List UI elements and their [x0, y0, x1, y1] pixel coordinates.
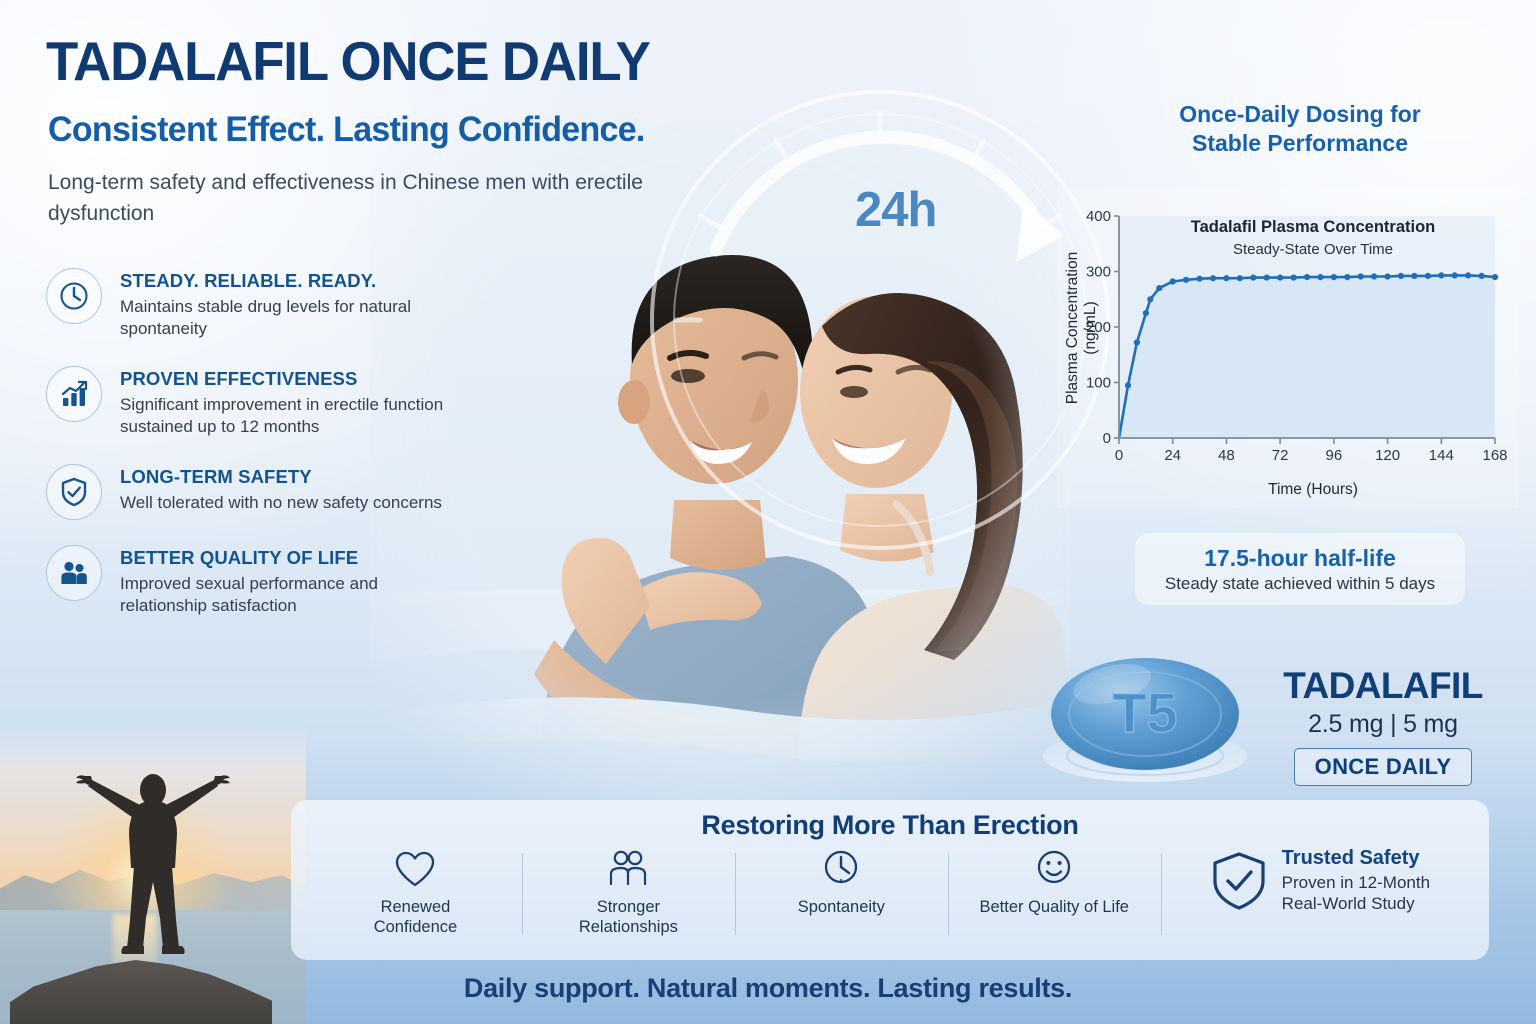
trusted-safety-line2: Real-World Study	[1282, 893, 1430, 914]
feature-item-effectiveness: PROVEN EFFECTIVENESS Significant improve…	[46, 366, 466, 439]
feature-list: STEADY. RELIABLE. READY. Maintains stabl…	[46, 268, 466, 643]
feature-heading: STEADY. RELIABLE. READY.	[120, 270, 466, 292]
svg-text:Tadalafil Plasma Concentration: Tadalafil Plasma Concentration	[1191, 218, 1436, 236]
svg-text:144: 144	[1429, 447, 1454, 464]
feature-item-quality-of-life: BETTER QUALITY OF LIFE Improved sexual p…	[46, 545, 466, 618]
feature-heading: PROVEN EFFECTIVENESS	[120, 368, 466, 390]
benefit-label: Spontaneity	[798, 897, 885, 917]
feature-body: Well tolerated with no new safety concer…	[120, 492, 442, 514]
svg-text:Steady-State Over Time: Steady-State Over Time	[1233, 241, 1393, 258]
man-arms-outstretched-silhouette	[58, 758, 248, 958]
halflife-title: 17.5-hour half-life	[1204, 545, 1396, 572]
svg-text:0: 0	[1103, 430, 1111, 447]
feature-heading: BETTER QUALITY OF LIFE	[120, 547, 466, 569]
plasma-concentration-chart: 0100200300400 024487296120144168 Tadalaf…	[1057, 188, 1519, 508]
smiley-face-icon	[1032, 847, 1076, 891]
svg-text:0: 0	[1115, 447, 1123, 464]
clock-icon	[46, 268, 102, 324]
product-info: TADALAFIL 2.5 mg | 5 mg ONCE DAILY	[1258, 665, 1508, 786]
tadalafil-pill-image: T5	[1040, 628, 1250, 788]
svg-text:100: 100	[1086, 375, 1111, 392]
svg-text:Time (Hours): Time (Hours)	[1268, 481, 1358, 498]
chart-panel-heading: Once-Daily Dosing for Stable Performance	[1125, 100, 1475, 158]
feature-item-safety: LONG-TERM SAFETY Well tolerated with no …	[46, 464, 466, 520]
product-dose: 2.5 mg | 5 mg	[1258, 710, 1508, 739]
svg-text:48: 48	[1218, 447, 1235, 464]
chart-heading-line1: Once-Daily Dosing for	[1125, 100, 1475, 129]
page-title: TADALAFIL ONCE DAILY	[46, 33, 650, 89]
halflife-callout: 17.5-hour half-life Steady state achieve…	[1135, 533, 1465, 605]
trusted-safety-line1: Proven in 12-Month	[1282, 872, 1430, 893]
footer-tagline: Daily support. Natural moments. Lasting …	[0, 973, 1536, 1004]
svg-text:96: 96	[1326, 447, 1343, 464]
feature-body: Maintains stable drug levels for natural…	[120, 296, 466, 341]
benefit-item-trusted-safety: Trusted Safety Proven in 12-Month Real-W…	[1161, 847, 1471, 915]
svg-text:300: 300	[1086, 264, 1111, 281]
benefit-label: Better Quality of Life	[979, 897, 1129, 917]
benefit-item-better-quality-of-life: Better Quality of Life	[948, 847, 1161, 917]
chart-heading-line2: Stable Performance	[1125, 129, 1475, 158]
halflife-subtitle: Steady state achieved within 5 days	[1165, 574, 1435, 594]
benefits-bar: Restoring More Than Erection RenewedConf…	[291, 800, 1489, 960]
svg-text:400: 400	[1086, 208, 1111, 225]
benefit-label: StrongerRelationships	[579, 897, 678, 937]
trusted-safety-heading: Trusted Safety	[1282, 847, 1430, 870]
pill-imprint: T5	[1112, 681, 1177, 744]
bar-chart-growth-icon	[46, 366, 102, 422]
svg-text:168: 168	[1482, 447, 1507, 464]
benefit-item-spontaneity: Spontaneity	[735, 847, 948, 917]
page-kicker: Long-term safety and effectiveness in Ch…	[48, 168, 668, 229]
feature-body: Improved sexual performance and relation…	[120, 573, 466, 618]
clock-icon	[819, 847, 863, 891]
svg-text:120: 120	[1375, 447, 1400, 464]
feature-heading: LONG-TERM SAFETY	[120, 466, 442, 488]
benefits-title: Restoring More Than Erection	[291, 800, 1489, 841]
feature-item-steady: STEADY. RELIABLE. READY. Maintains stabl…	[46, 268, 466, 341]
shield-check-icon	[1210, 850, 1268, 912]
page-subtitle: Consistent Effect. Lasting Confidence.	[48, 110, 645, 150]
people-pair-icon	[606, 847, 650, 891]
benefits-row: RenewedConfidence StrongerRelationships …	[291, 841, 1489, 945]
benefit-item-renewed-confidence: RenewedConfidence	[309, 847, 522, 937]
svg-text:72: 72	[1272, 447, 1289, 464]
people-group-icon	[46, 545, 102, 601]
feature-body: Significant improvement in erectile func…	[120, 394, 466, 439]
24h-badge-label: 24h	[855, 182, 936, 238]
svg-text:24: 24	[1164, 447, 1181, 464]
product-name: TADALAFIL	[1258, 665, 1508, 707]
benefit-item-stronger-relationships: StrongerRelationships	[522, 847, 735, 937]
benefit-label: RenewedConfidence	[374, 897, 457, 937]
shield-check-icon	[46, 464, 102, 520]
product-frequency-badge: ONCE DAILY	[1294, 748, 1473, 786]
heart-icon	[393, 847, 437, 891]
